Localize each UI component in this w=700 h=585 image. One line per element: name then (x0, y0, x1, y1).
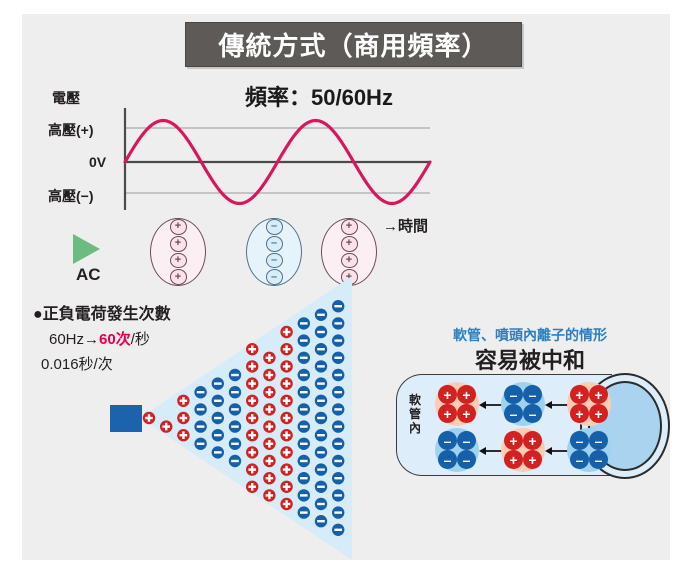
spray-ion-negative (315, 463, 327, 475)
spray-ion-negative (332, 472, 344, 484)
spray-ion-positive (263, 489, 275, 501)
ion-cluster-positive: ++++ (435, 382, 479, 426)
ion-dot: – (589, 450, 608, 469)
spray-ion-negative (298, 403, 310, 415)
spray-ion-positive (143, 412, 155, 424)
tube-panel-subtitle: 軟管、噴頭內離子的情形 (410, 325, 650, 345)
spray-ion-negative (298, 472, 310, 484)
spray-ion-negative (298, 334, 310, 346)
ion-dot: + (589, 404, 608, 423)
spray-ion-negative (332, 403, 344, 415)
spray-ion-negative (332, 369, 344, 381)
spray-ion-negative (212, 446, 224, 458)
spray-ion-negative (194, 403, 206, 415)
spray-ion-positive (246, 463, 258, 475)
ion-dot: + (438, 404, 457, 423)
ion-dot: + (570, 385, 589, 404)
ion-dot: – (570, 431, 589, 450)
ion-dot: – (438, 431, 457, 450)
spray-ion-positive (160, 420, 172, 432)
spray-ion-negative (332, 317, 344, 329)
spray-ion-positive (280, 377, 292, 389)
spray-ion-positive (280, 463, 292, 475)
ion-dot: + (438, 385, 457, 404)
spray-ion-negative (298, 369, 310, 381)
spray-ion-positive (246, 446, 258, 458)
spray-ion-negative (315, 343, 327, 355)
spray-ion-negative (298, 386, 310, 398)
spray-ion-positive (280, 360, 292, 372)
spray-ion-positive (263, 472, 275, 484)
spray-ion-negative (315, 429, 327, 441)
spray-ion-negative (298, 317, 310, 329)
spray-cone (0, 0, 700, 585)
spray-ion-negative (315, 309, 327, 321)
spray-ion-positive (280, 481, 292, 493)
spray-ion-positive (280, 412, 292, 424)
spray-ion-positive (263, 386, 275, 398)
spray-ion-positive (246, 395, 258, 407)
ion-cluster-negative: –––– (567, 428, 611, 472)
ion-cluster-positive: ++++ (501, 428, 545, 472)
spray-ion-negative (298, 455, 310, 467)
spray-ion-negative (212, 395, 224, 407)
spray-ion-negative (332, 334, 344, 346)
spray-ion-positive (246, 360, 258, 372)
spray-ion-negative (229, 369, 241, 381)
spray-ion-negative (315, 498, 327, 510)
ion-dot: + (523, 431, 542, 450)
ion-dot: – (523, 404, 542, 423)
ion-cluster-negative: –––– (435, 428, 479, 472)
spray-ion-negative (194, 438, 206, 450)
ion-dot: – (504, 385, 523, 404)
spray-ion-negative (332, 438, 344, 450)
hose-label: 軟管內 (407, 394, 423, 435)
spray-ion-positive (280, 326, 292, 338)
spray-ion-positive (177, 429, 189, 441)
spray-ion-negative (315, 446, 327, 458)
spray-ion-negative (315, 360, 327, 372)
spray-ion-negative (332, 300, 344, 312)
ion-dot: – (523, 385, 542, 404)
ion-dot: – (438, 450, 457, 469)
spray-ion-negative (332, 524, 344, 536)
spray-ion-negative (194, 386, 206, 398)
spray-ion-positive (246, 377, 258, 389)
spray-ion-negative (315, 377, 327, 389)
ion-dot: – (457, 450, 476, 469)
spray-ion-positive (280, 429, 292, 441)
spray-ion-negative (298, 352, 310, 364)
ion-dot: + (504, 450, 523, 469)
spray-ion-negative (229, 420, 241, 432)
tube-panel-title: 容易被中和 (410, 343, 650, 375)
spray-ion-negative (315, 326, 327, 338)
ion-dot: – (504, 404, 523, 423)
ion-dot: – (457, 431, 476, 450)
hose-diagram: 軟管內 ++++––––++++––––++++–––– (396, 374, 670, 474)
ion-dot: + (457, 385, 476, 404)
spray-ion-positive (280, 343, 292, 355)
ion-dot: + (504, 431, 523, 450)
spray-ion-positive (246, 412, 258, 424)
spray-ion-negative (298, 506, 310, 518)
spray-ion-negative (315, 515, 327, 527)
spray-ion-negative (212, 429, 224, 441)
spray-ion-negative (315, 481, 327, 493)
spray-ion-negative (298, 489, 310, 501)
spray-ion-negative (332, 506, 344, 518)
ion-dot: – (589, 431, 608, 450)
spray-ion-positive (280, 498, 292, 510)
spray-ion-negative (315, 412, 327, 424)
spray-ion-negative (229, 455, 241, 467)
spray-ion-negative (332, 386, 344, 398)
spray-ion-positive (263, 403, 275, 415)
spray-ion-positive (246, 481, 258, 493)
spray-ion-positive (177, 395, 189, 407)
spray-ion-negative (194, 420, 206, 432)
spray-ion-positive (263, 369, 275, 381)
nozzle-rectangle-icon (110, 405, 142, 432)
ion-dot: + (457, 404, 476, 423)
ion-cluster-positive: ++++ (567, 382, 611, 426)
spray-ion-negative (298, 420, 310, 432)
spray-ion-negative (212, 377, 224, 389)
spray-ion-positive (263, 455, 275, 467)
spray-ion-positive (246, 343, 258, 355)
spray-ion-negative (229, 386, 241, 398)
spray-ion-positive (263, 438, 275, 450)
spray-ion-positive (280, 395, 292, 407)
spray-ion-positive (280, 446, 292, 458)
ion-dot: – (570, 450, 589, 469)
ion-dot: + (570, 404, 589, 423)
spray-ion-negative (315, 395, 327, 407)
spray-ion-positive (263, 420, 275, 432)
spray-ion-negative (229, 403, 241, 415)
ion-dot: + (523, 450, 542, 469)
spray-ion-positive (246, 429, 258, 441)
spray-ion-negative (332, 455, 344, 467)
spray-ion-negative (332, 420, 344, 432)
spray-ion-negative (229, 438, 241, 450)
diagram-canvas: 傳統方式（商用頻率） 頻率：50/60Hz 電壓 高壓(+) 0V 高壓(−) … (0, 0, 700, 585)
spray-ion-negative (298, 438, 310, 450)
spray-ion-positive (177, 412, 189, 424)
spray-ion-negative (332, 489, 344, 501)
spray-ion-positive (263, 352, 275, 364)
spray-ion-negative (212, 412, 224, 424)
spray-ion-negative (332, 352, 344, 364)
ion-cluster-negative: –––– (501, 382, 545, 426)
ion-dot: + (589, 385, 608, 404)
